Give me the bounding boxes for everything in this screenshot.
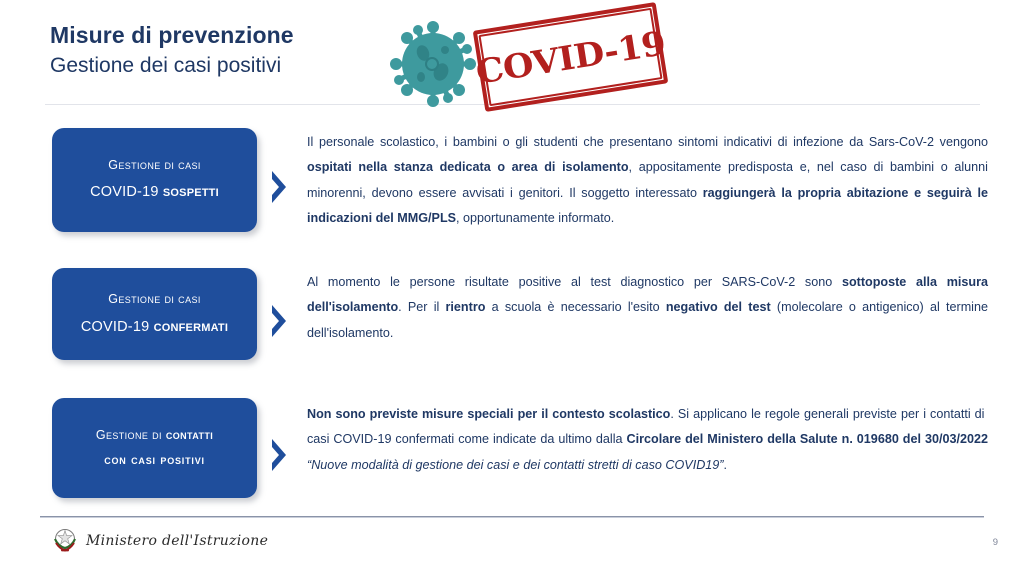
label-line-1: Gestione di contatti (96, 426, 213, 445)
paragraph-contacts: Non sono previste misure speciali per il… (307, 398, 988, 498)
covid-graphic: COVID-19 (383, 8, 668, 108)
chevron-right-icon (257, 268, 301, 360)
slide-header: Misure di prevenzione Gestione dei casi … (50, 22, 294, 79)
stamp-label: COVID-19 (467, 1, 674, 113)
chevron-right-icon (257, 398, 301, 498)
paragraph-suspected-cases: Il personale scolastico, i bambini o gli… (307, 128, 988, 232)
covid-stamp: COVID-19 (473, 2, 669, 112)
footer-divider (40, 516, 984, 518)
content-row-1: Gestione di casi COVID-19 sospetti Il pe… (0, 128, 1024, 232)
footer: Ministero dell'Istruzione (52, 527, 268, 555)
content-row-3: Gestione di contatti con casi positivi N… (0, 398, 1024, 498)
label-line-2: COVID-19 sospetti (90, 180, 219, 204)
label-box-suspected-cases[interactable]: Gestione di casi COVID-19 sospetti (52, 128, 257, 232)
page-subtitle: Gestione dei casi positivi (50, 52, 294, 79)
italian-republic-emblem-icon (52, 527, 78, 555)
label-box-contacts[interactable]: Gestione di contatti con casi positivi (52, 398, 257, 498)
label-line-2: COVID-19 confermati (81, 315, 228, 339)
label-line-2: con casi positivi (104, 450, 205, 470)
page-title: Misure di prevenzione (50, 22, 294, 49)
label-box-confirmed-cases[interactable]: Gestione di casi COVID-19 confermati (52, 268, 257, 360)
slide: Misure di prevenzione Gestione dei casi … (0, 0, 1024, 576)
label-line-1: Gestione di casi (108, 290, 201, 309)
page-number: 9 (993, 537, 998, 548)
content-row-2: Gestione di casi COVID-19 confermati Al … (0, 268, 1024, 360)
chevron-right-icon (257, 128, 301, 232)
label-line-1: Gestione di casi (108, 156, 201, 175)
ministry-name: Ministero dell'Istruzione (86, 533, 268, 549)
paragraph-confirmed-cases: Al momento le persone risultate positive… (307, 268, 988, 360)
